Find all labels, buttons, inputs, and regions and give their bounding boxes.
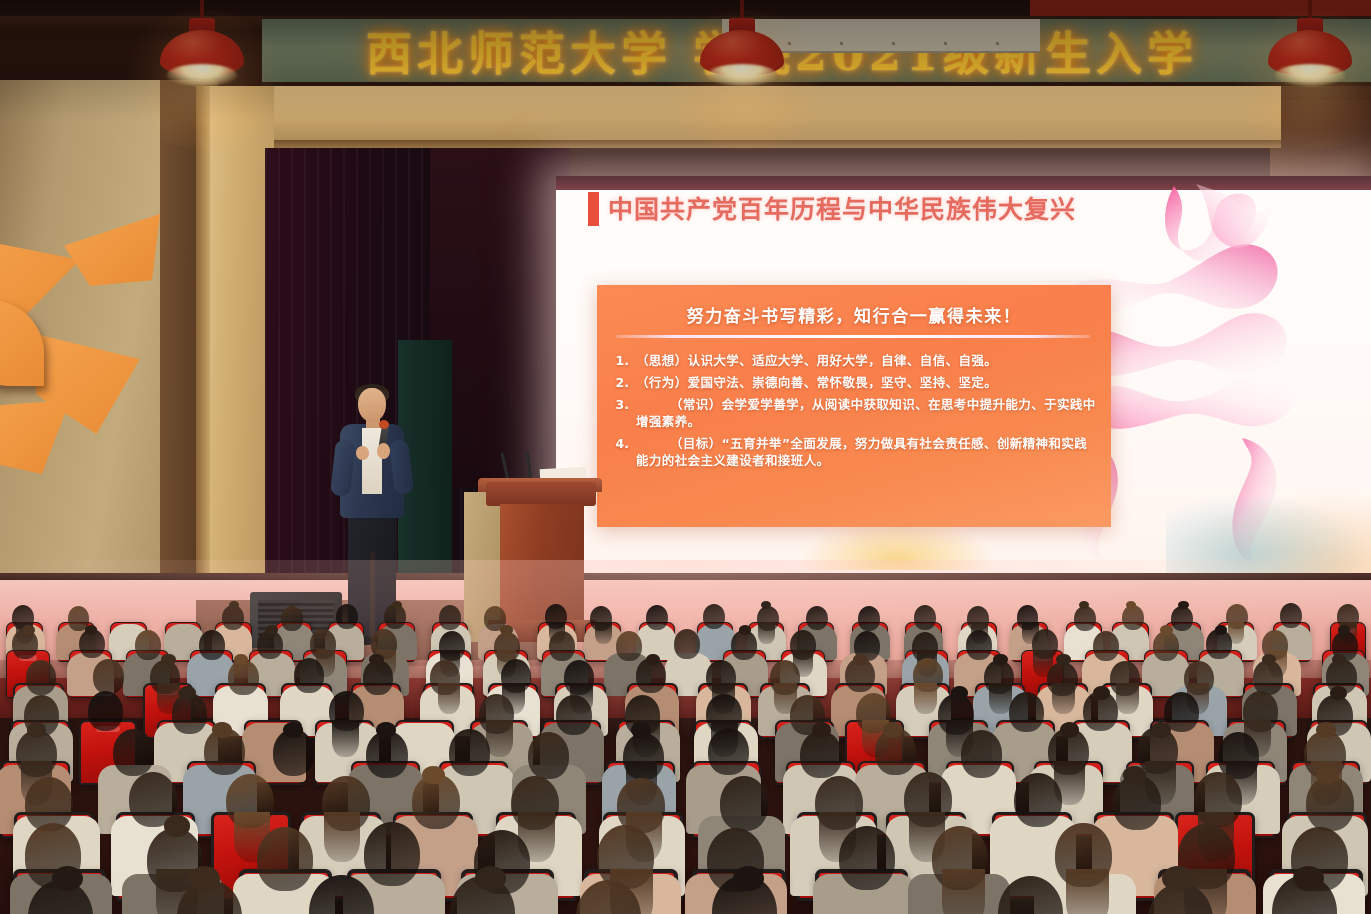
audience-person-head	[839, 826, 895, 890]
audience-hair-bun	[500, 625, 512, 635]
audience-person-head	[1306, 776, 1354, 831]
audience-person-head	[88, 691, 123, 731]
audience-hair-bun	[1316, 722, 1336, 738]
audience-hair-bun	[993, 654, 1007, 666]
audience-person-head	[257, 827, 313, 891]
audience-hair-long	[486, 720, 513, 757]
lamp-glow	[1275, 64, 1346, 86]
bullet-text: （常识）会学爱学善学，从阅读中获取知识、在思考中提升能力、于实践中增强素养。	[629, 396, 1107, 430]
led-banner: 西北师范大学 学院2021级新生入学	[262, 16, 1371, 86]
audience-hair-bun	[27, 722, 47, 738]
audience-hair-bun	[212, 722, 232, 738]
audience-hair-bun	[1093, 686, 1110, 699]
slide-bullet-list: 1. （思想）认识大学、适应大学、用好大学，自律、自信、自强。 2. （行为）爱…	[603, 352, 1107, 474]
audience-person-head	[439, 605, 461, 630]
audience-person-head	[294, 658, 324, 693]
audience-person-head	[674, 629, 700, 659]
slide-title: 中国共产党百年历程与中华民族伟大复兴	[608, 190, 1076, 226]
audience-hair-bun	[1162, 866, 1193, 891]
slide-title-accent-bar	[588, 192, 599, 226]
audience-hair-bun	[853, 654, 867, 666]
speaker-hand-left	[356, 446, 369, 460]
audience-hair-bun	[812, 722, 832, 738]
audience-hair-bun	[1151, 722, 1171, 738]
audience-person-head	[199, 630, 225, 660]
audience-person-head	[135, 630, 161, 660]
audience-hair-bun	[283, 722, 303, 738]
audience-hair-long	[324, 812, 360, 862]
audience-hair-bun	[161, 654, 175, 666]
slide-heading: 努力奋斗书写精彩，知行合一赢得未来！	[597, 302, 1111, 327]
slide-background-landscape	[1166, 494, 1371, 580]
speaker-head	[358, 388, 386, 422]
audience-hair-bun	[1060, 722, 1080, 738]
audience-person-head	[549, 631, 575, 661]
audience-person-head	[363, 660, 393, 695]
audience-person-head	[858, 606, 880, 631]
audience-hair-bun	[883, 722, 903, 738]
lamp-glow	[707, 64, 778, 86]
list-item: 2. （行为）爱国守法、崇德向善、常怀敬畏，坚守、坚持、坚定。	[603, 374, 1107, 391]
lamp-glow	[167, 64, 238, 86]
audience-hair-bun	[376, 722, 396, 738]
audience-hair-bun	[179, 686, 196, 699]
audience-person-head	[703, 604, 725, 629]
audience-person-head	[961, 730, 1002, 777]
audience-person-head	[1253, 660, 1283, 695]
audience-hair-bun	[164, 815, 191, 836]
audience-person-head	[556, 695, 591, 735]
audience-hair-long	[595, 622, 612, 645]
proscenium-top	[196, 86, 1281, 148]
audience-person-head	[720, 776, 768, 831]
audience-hair-long	[758, 622, 775, 645]
audience-hair-long	[332, 720, 359, 757]
audience-hair-bun	[1293, 866, 1324, 891]
audience-area	[0, 600, 1371, 914]
audience-hair-bun	[739, 625, 751, 635]
bullet-number: 3.	[603, 396, 629, 413]
audience-person-head	[93, 659, 123, 694]
auditorium-scene: 西北师范大学 学院2021级新生入学 中国共产党百年历程与中华民族伟大复兴	[0, 0, 1371, 914]
audience-person-head	[616, 631, 642, 661]
audience-hair-bun	[265, 625, 277, 635]
bullet-number: 2.	[603, 374, 629, 391]
podium-top	[486, 482, 596, 506]
audience-person-head	[364, 822, 420, 886]
audience-person-head	[113, 729, 154, 776]
audience-person-head	[1074, 606, 1096, 631]
audience-person-head	[228, 660, 258, 695]
screen-top-band	[556, 176, 1371, 190]
speaker-hand-right	[377, 443, 390, 459]
audience-person-head	[1093, 631, 1119, 661]
audience-person-head	[1153, 631, 1179, 661]
list-item: 1. （思想）认识大学、适应大学、用好大学，自律、自信、自强。	[603, 352, 1107, 369]
audience-person-head	[646, 605, 668, 630]
audience-hair-long	[942, 869, 985, 914]
audience-hair-bun	[1330, 686, 1347, 699]
audience-hair-long	[1052, 683, 1075, 715]
audience-person-head	[914, 605, 936, 630]
proscenium-left-edge	[196, 86, 210, 656]
bullet-number: 4.	[603, 435, 629, 452]
audience-person-head	[528, 732, 569, 779]
audience-hair-long	[438, 683, 461, 715]
slide-content-box: 努力奋斗书写精彩，知行合一赢得未来！ 1. （思想）认识大学、适应大学、用好大学…	[597, 285, 1111, 527]
audience-person-head	[366, 731, 407, 778]
list-item: 3. （常识）会学爱学善学，从阅读中获取知识、在思考中提升能力、于实践中增强素养…	[603, 396, 1107, 430]
audience-person-head	[449, 729, 490, 776]
bullet-text: （目标）“五育并举”全面发展，努力做具有社会责任感、创新精神和实践能力的社会主义…	[629, 435, 1107, 469]
audience-hair-long	[914, 683, 937, 715]
audience-person-head	[26, 660, 56, 695]
audience-person-head	[336, 604, 358, 629]
audience-hair-long	[1066, 869, 1109, 914]
bullet-number: 1.	[603, 352, 629, 369]
audience-hair-long	[1116, 683, 1139, 715]
audience-person-head	[281, 606, 303, 631]
audience-person-head	[806, 606, 828, 631]
audience-hair-bun	[1316, 766, 1339, 784]
audience-hair-bun	[189, 866, 220, 891]
audience-hair-bun	[951, 686, 968, 699]
projection-screen: 中国共产党百年历程与中华民族伟大复兴	[556, 176, 1371, 580]
audience-person-head	[1009, 692, 1044, 732]
audience-person-head	[800, 731, 841, 778]
microphone-head-icon	[379, 420, 389, 429]
bullet-text: （思想）认识大学、适应大学、用好大学，自律、自信、自强。	[629, 352, 1107, 369]
slide-heading-divider	[616, 335, 1090, 338]
audience-person-head	[708, 728, 749, 775]
audience-person-head	[1280, 603, 1302, 628]
audience-hair-bun	[1178, 601, 1188, 609]
list-item: 4. （目标）“五育并举”全面发展，努力做具有社会责任感、创新精神和实践能力的社…	[603, 435, 1107, 469]
audience-hair-bun	[22, 625, 34, 635]
bullet-text: （行为）爱国守法、崇德向善、常怀敬畏，坚守、坚持、坚定。	[629, 374, 1107, 391]
audience-hair-bun	[229, 601, 239, 609]
audience-hair-bun	[52, 866, 83, 891]
audience-person-head	[966, 630, 992, 660]
audience-hair-bun	[631, 722, 651, 738]
audience-person-head	[1014, 773, 1062, 828]
audience-person-head	[1171, 606, 1193, 631]
